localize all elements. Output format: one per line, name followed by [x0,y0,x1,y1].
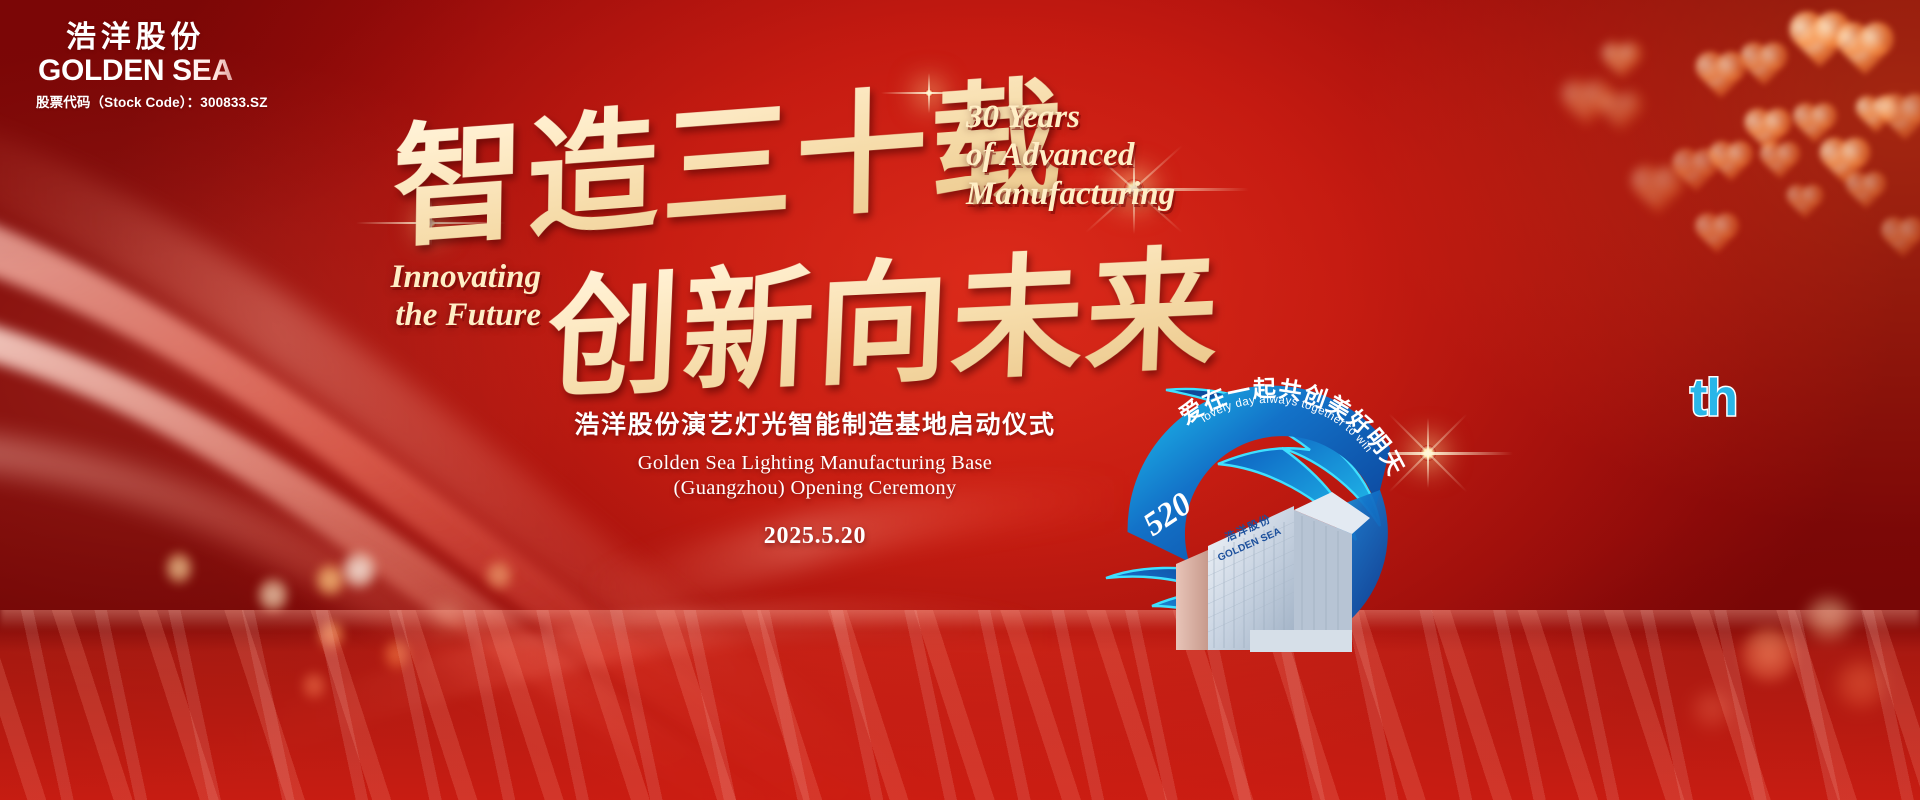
event-banner: 浩洋股份 GOLDEN SEA 股票代码（Stock Code）：300833.… [0,0,1920,800]
tagline-left-line-2: the Future [371,296,541,334]
floor-light-streaks-secondary [0,610,1920,800]
tagline-right-line-3: Manufacturing [966,175,1216,213]
ceremony-title-en-line-1: Golden Sea Lighting Manufacturing Base [560,451,1070,476]
stock-code-label: 股票代码（Stock Code）：300833.SZ [36,91,268,111]
ceremony-subtitle-block: 浩洋股份演艺灯光智能制造基地启动仪式 Golden Sea Lighting M… [560,405,1070,550]
headquarters-building: 浩洋股份 GOLDEN SEA [1176,492,1370,652]
brand-logo-block: 浩洋股份 GOLDEN SEA 股票代码（Stock Code）：300833.… [36,22,268,111]
emblem-th-badge: th [1690,368,1737,428]
ceremony-title-cn: 浩洋股份演艺灯光智能制造基地启动仪式 [560,405,1070,441]
stage-floor-decoration [0,610,1920,800]
tagline-right: 30 Years of Advanced Manufacturing [966,98,1216,213]
tagline-left: Innovating the Future [371,258,541,335]
ceremony-title-en: Golden Sea Lighting Manufacturing Base (… [560,451,1070,501]
heart-bokeh-decoration [1450,0,1920,330]
brand-name-en: GOLDEN SEA [36,56,268,87]
tagline-right-line-1: 30 Years [966,98,1216,136]
headline-line-2: 创新向未来 [544,202,1225,424]
ceremony-date: 2025.5.20 [560,523,1070,550]
ceremony-title-en-line-2: (Guangzhou) Opening Ceremony [560,476,1070,501]
tagline-right-line-2: of Advanced [966,136,1216,174]
tagline-left-line-1: Innovating [371,258,541,296]
anniversary-emblem: 520 爱在一起共创美好明天 lovely day always togethe… [1080,350,1500,670]
brand-name-cn: 浩洋股份 [36,22,268,54]
